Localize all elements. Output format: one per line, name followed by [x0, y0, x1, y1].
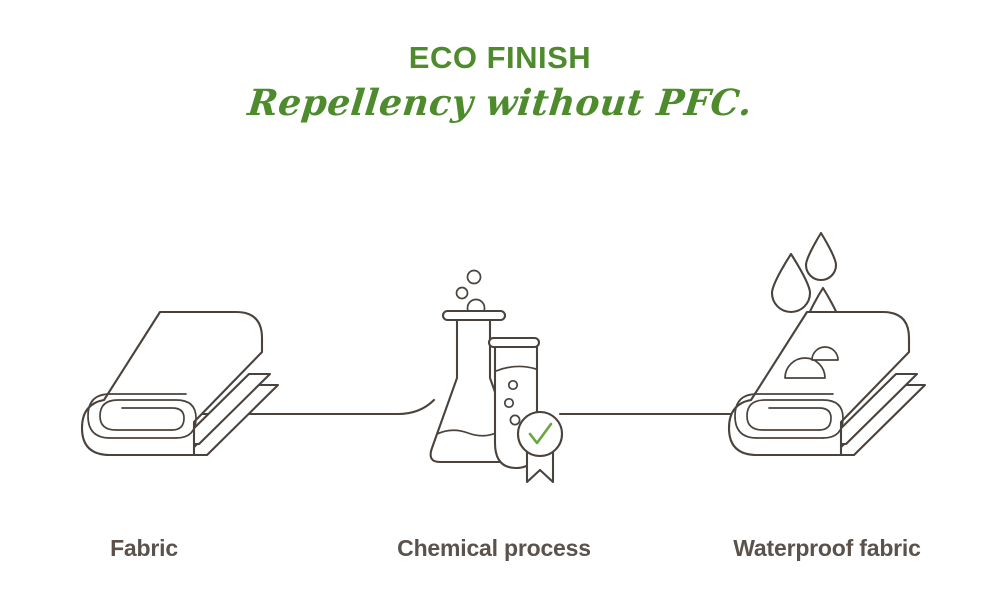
process-flow-line: [196, 400, 742, 414]
caption-fabric: Fabric: [110, 535, 178, 562]
caption-waterproof-fabric: Waterproof fabric: [733, 535, 920, 562]
test-tube-icon: [489, 338, 539, 468]
stage-captions: Fabric Chemical process Waterproof fabri…: [0, 535, 1000, 575]
caption-chemical-process: Chemical process: [397, 535, 591, 562]
chemical-process-icon: [431, 271, 562, 483]
bubble-icon: [457, 271, 485, 317]
waterproof-fabric-icon: [729, 233, 925, 455]
check-badge-icon: [518, 412, 562, 482]
erlenmeyer-flask-icon: [431, 311, 517, 462]
folded-fabric-icon: [82, 312, 278, 455]
header: ECO FINISH Repellency without PFC.: [0, 0, 1000, 122]
beaded-drop-icon: [785, 347, 838, 378]
page-title: ECO FINISH: [0, 42, 1000, 75]
page-subtitle: Repellency without PFC.: [0, 85, 1000, 123]
water-drop-icon: [772, 233, 840, 341]
eco-finish-infographic: ECO FINISH Repellency without PFC. .ln {…: [0, 0, 1000, 615]
